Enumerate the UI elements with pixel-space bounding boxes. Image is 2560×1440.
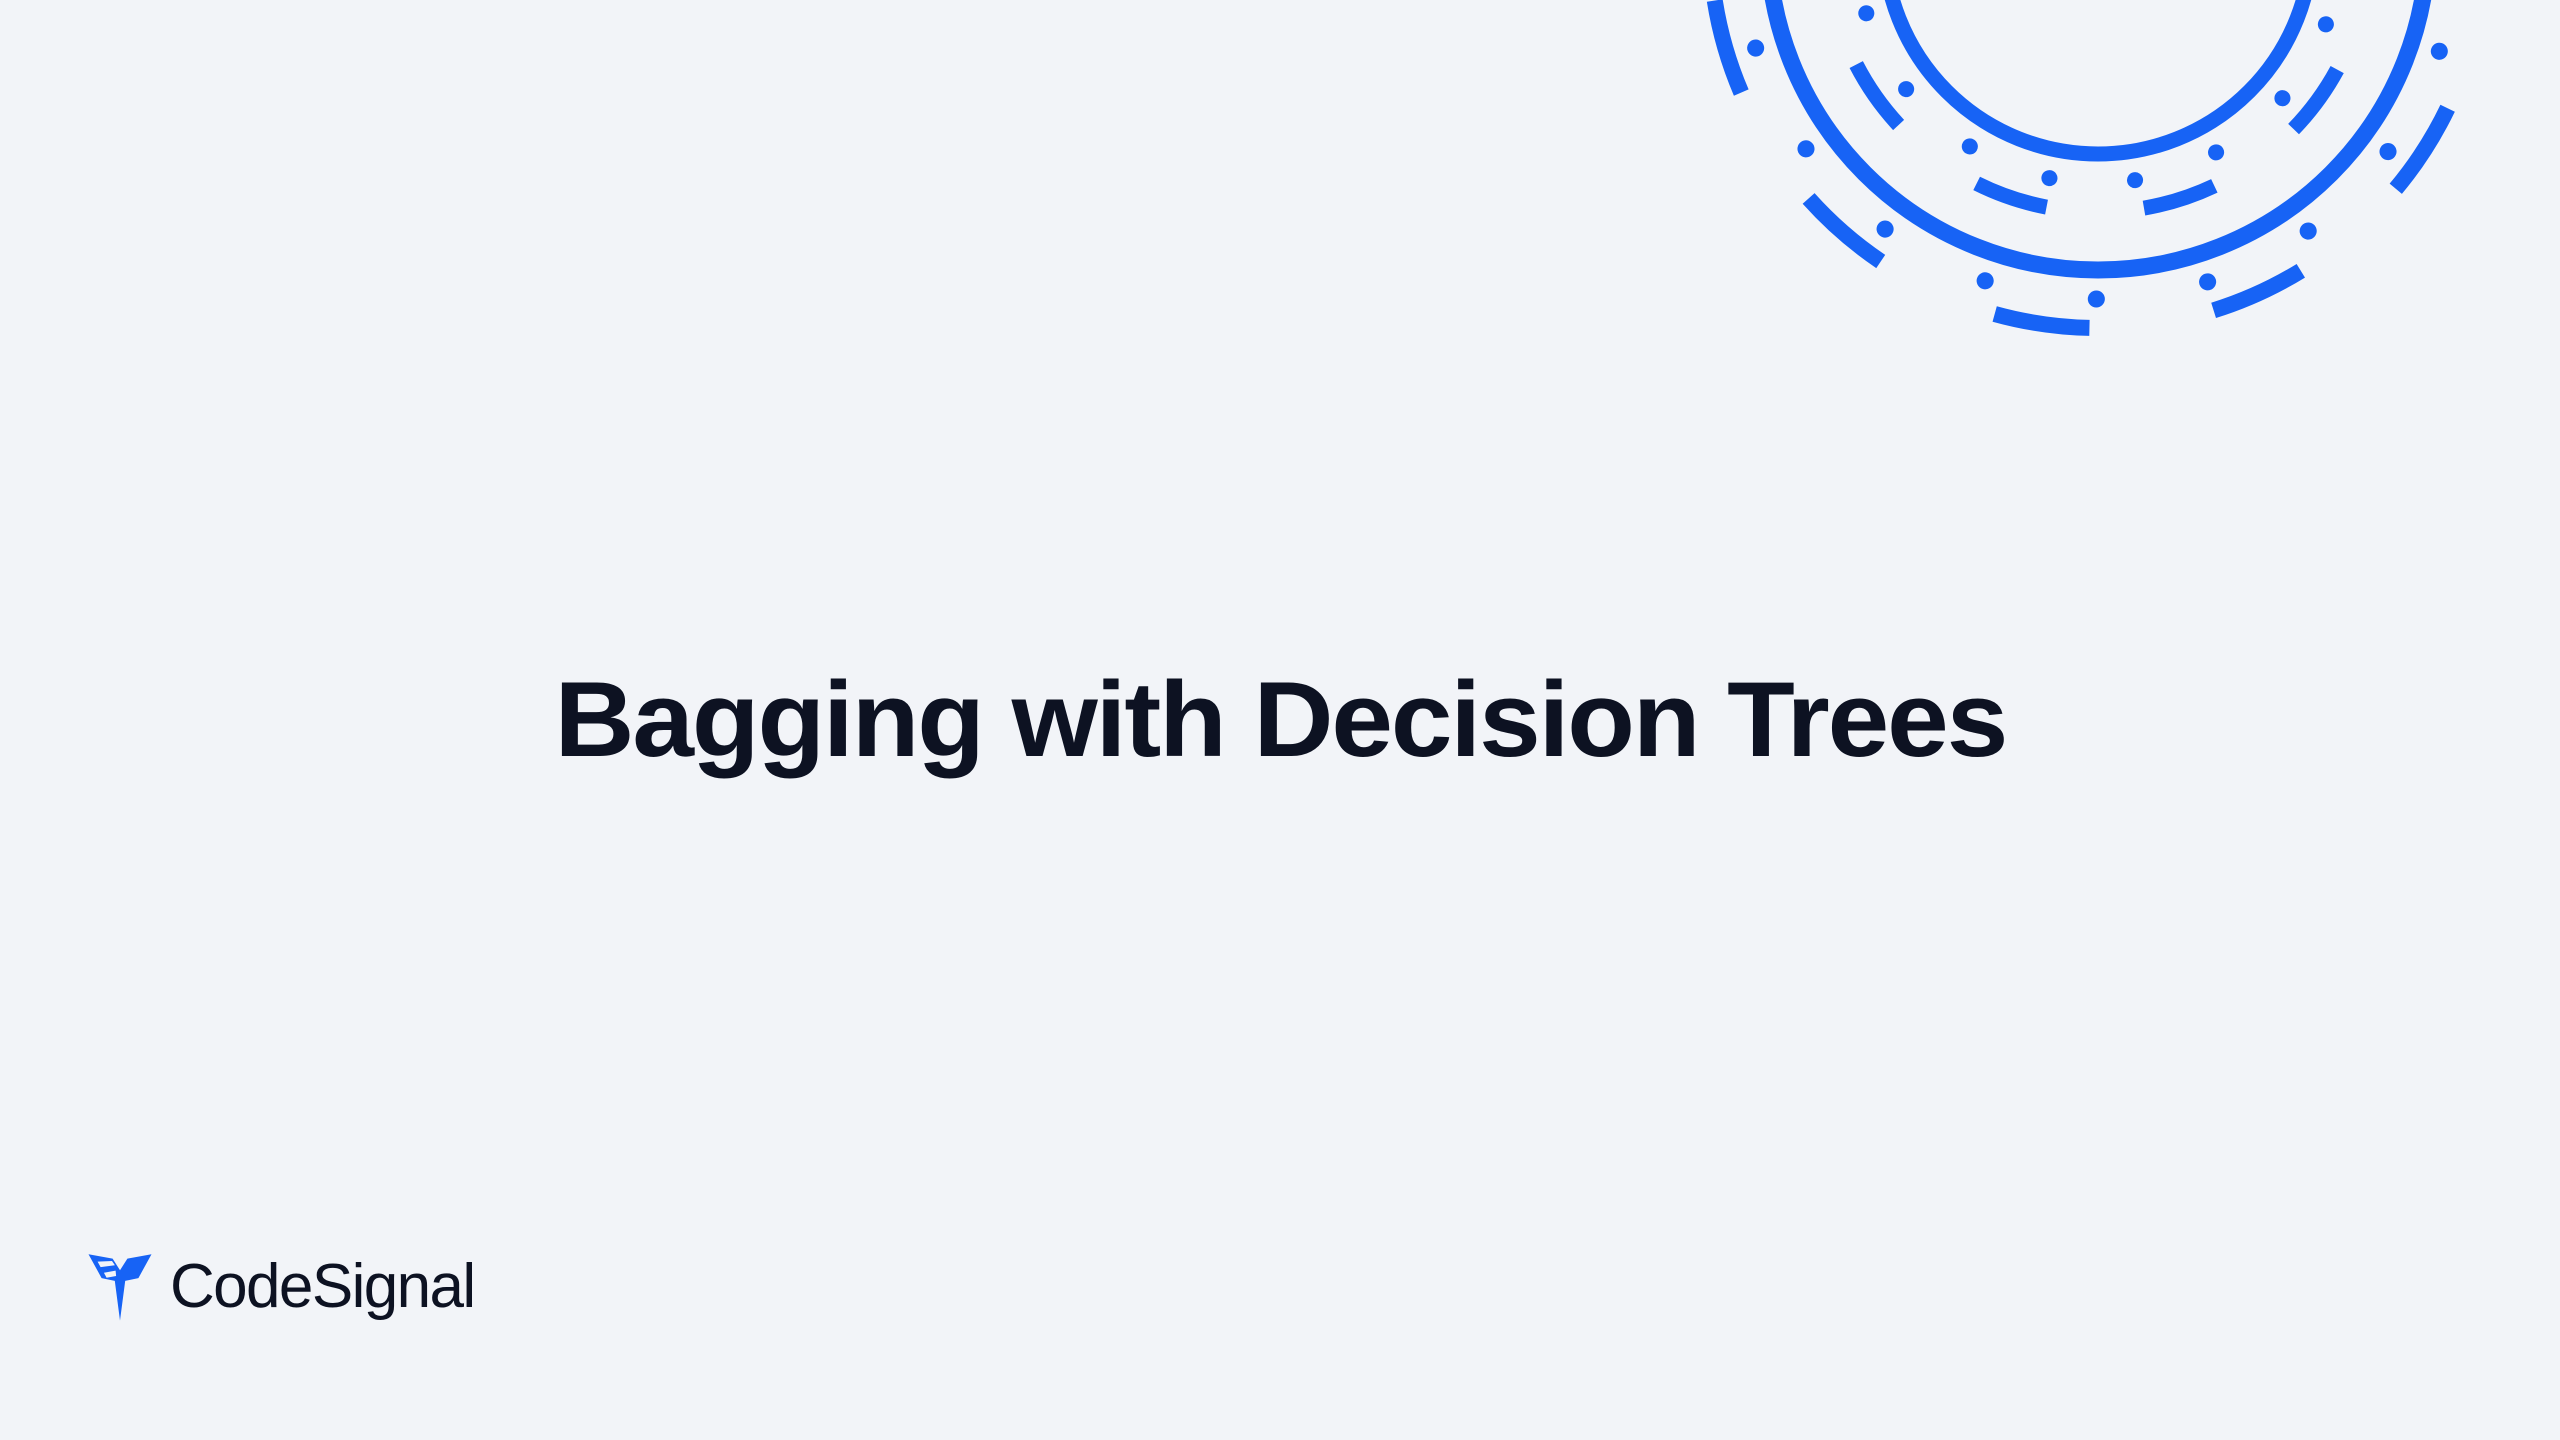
page-title: Bagging with Decision Trees [430,660,2130,780]
codesignal-falcon-icon [88,1252,152,1322]
title-container: Bagging with Decision Trees [0,0,2560,1440]
brand-logo: CodeSignal [88,1252,475,1322]
slide-canvas: Bagging with Decision Trees CodeSignal [0,0,2560,1440]
brand-name: CodeSignal [170,1256,475,1318]
